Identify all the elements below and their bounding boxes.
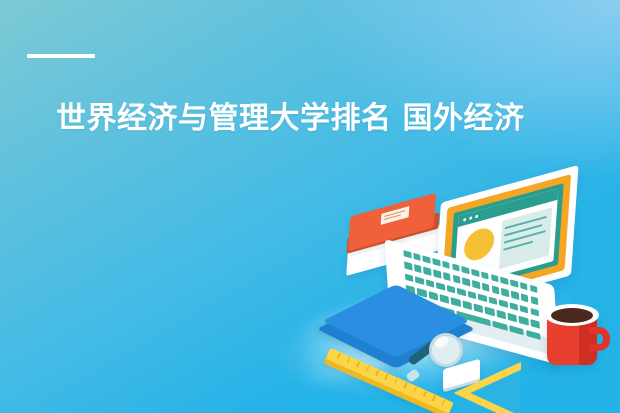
- keyboard-key: [530, 319, 540, 328]
- keyboard-key: [501, 288, 509, 297]
- ruler-tick: [375, 370, 379, 376]
- keyboard-key: [468, 291, 477, 300]
- magnifier-handle-cap: [406, 368, 421, 382]
- ruler-tick: [423, 391, 427, 397]
- keyboard-key: [472, 280, 480, 289]
- keyboard-key: [520, 282, 528, 291]
- coffee-liquid: [551, 308, 593, 323]
- keyboard-key: [488, 296, 497, 305]
- keyboard-key: [413, 253, 421, 262]
- keyboard-key: [457, 288, 466, 297]
- keyboard-key: [405, 273, 414, 282]
- keyboard-key: [462, 301, 472, 310]
- keyboard-key: [443, 272, 451, 281]
- keyboard-key: [530, 308, 539, 317]
- ruler-tick: [442, 399, 446, 405]
- keyboard-key: [452, 263, 460, 272]
- keyboard-key: [508, 313, 518, 322]
- ruler-tick: [347, 357, 351, 363]
- keyboard-key: [453, 275, 461, 284]
- promo-banner: 世界经济与管理大学排名 国外经济: [0, 0, 620, 413]
- keyboard-key: [530, 296, 538, 305]
- ruler-tick: [404, 382, 408, 388]
- keyboard-key: [428, 291, 438, 300]
- keyboard-key: [436, 282, 445, 291]
- keyboard-key: [521, 294, 529, 303]
- keyboard-key: [510, 279, 518, 288]
- keyboard-key: [500, 277, 508, 286]
- keyboard-key: [509, 302, 518, 311]
- keyboard-key: [491, 274, 499, 283]
- keyboard-key: [440, 294, 450, 303]
- coffee-mug-handle: [589, 327, 610, 351]
- keyboard-key: [499, 299, 508, 308]
- keyboard-key: [482, 283, 490, 292]
- keyboard-key: [462, 266, 470, 275]
- keyboard-key: [519, 316, 529, 325]
- ruler-edge: [324, 359, 449, 413]
- keyboard-key: [478, 293, 487, 302]
- ruler-tick: [337, 353, 341, 359]
- keyboard-key: [424, 267, 432, 276]
- keyboard-key: [423, 255, 431, 264]
- ruler-tick: [385, 374, 389, 380]
- ruler-tick: [413, 387, 417, 393]
- keyboard-key: [520, 305, 529, 314]
- keyboard-key: [432, 258, 440, 267]
- avatar: [463, 225, 495, 264]
- keyboard-key: [485, 307, 495, 316]
- keyboard-key: [447, 285, 456, 294]
- ruler-tick: [356, 361, 360, 367]
- keyboard-key: [403, 250, 411, 259]
- keyboard-key: [530, 285, 538, 294]
- accent-rule: [27, 54, 95, 58]
- keyboard-key: [492, 286, 500, 295]
- keyboard-key: [471, 269, 479, 278]
- keyboard-key: [462, 278, 470, 287]
- ruler-tick: [432, 395, 436, 401]
- keyboard-key: [426, 279, 435, 288]
- keyboard-key: [451, 297, 461, 306]
- page-title: 世界经济与管理大学排名 国外经济: [56, 98, 596, 140]
- keyboard-key: [415, 276, 424, 285]
- keyboard-key: [496, 310, 506, 319]
- keyboard-key: [474, 304, 484, 313]
- ruler-tick: [394, 378, 398, 384]
- study-desk-illustration: [325, 185, 620, 413]
- keyboard-key: [433, 270, 441, 279]
- keyboard-key: [414, 264, 422, 273]
- keyboard-key: [404, 262, 412, 271]
- keyboard-key: [442, 261, 450, 270]
- ruler-tick: [366, 366, 370, 372]
- keyboard-key: [511, 291, 519, 300]
- keyboard-key: [481, 271, 489, 280]
